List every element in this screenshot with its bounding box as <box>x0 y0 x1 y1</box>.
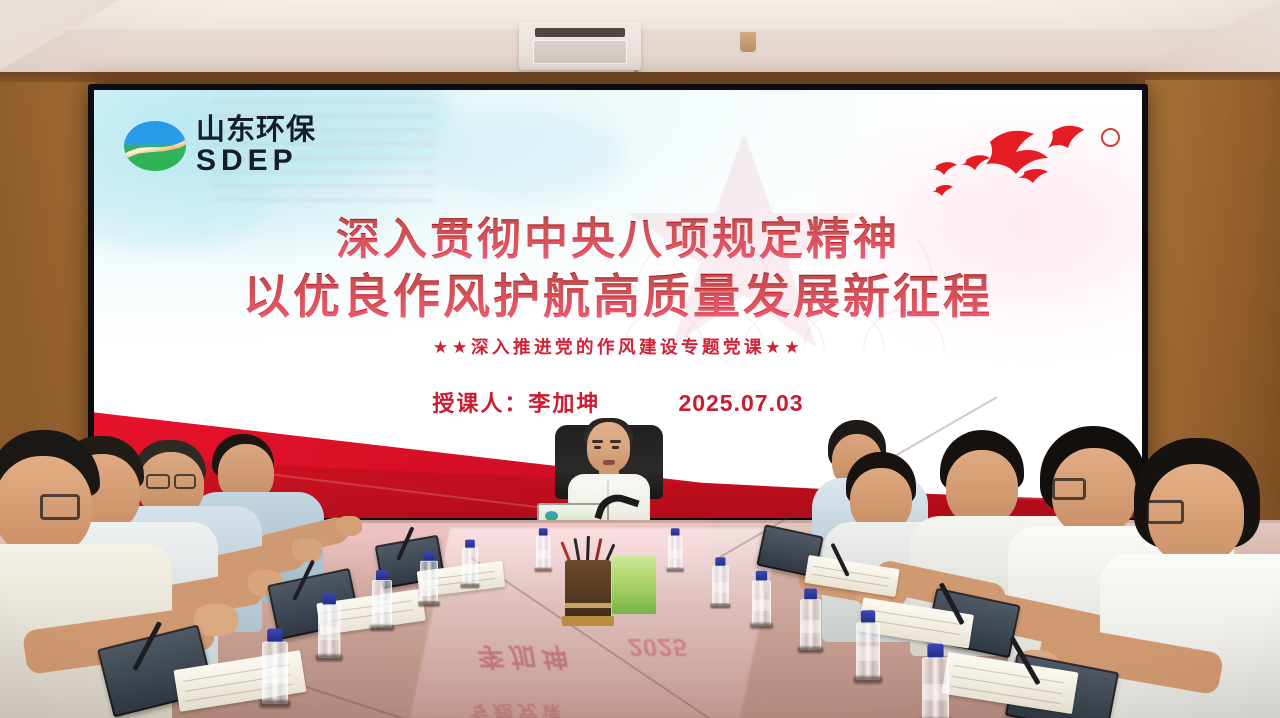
water-bottle[interactable] <box>372 570 392 628</box>
slide-title-line-1: 深入贯彻中央八项规定精神 <box>94 212 1142 268</box>
water-bottle[interactable] <box>856 610 880 680</box>
presenter-label: 授课人：李加坤 <box>432 386 600 418</box>
ceiling-sensor-icon <box>740 32 756 52</box>
circle-outline-icon <box>1101 128 1120 147</box>
brand-name-cn: 山东环保 <box>196 115 316 144</box>
water-bottle[interactable] <box>800 589 821 650</box>
wooden-pen-holder <box>565 560 611 618</box>
water-bottle[interactable] <box>922 644 949 718</box>
speaker-brow <box>592 440 603 443</box>
logo-river-shape <box>124 133 186 163</box>
wall-left-panel <box>0 82 96 482</box>
speaker-mouth <box>603 460 615 465</box>
table-reflection-name: 李加坤 <box>475 640 578 677</box>
table-reflection-date: 2025 <box>625 632 690 661</box>
attendee-glasses <box>40 494 80 520</box>
slide-subtitle: ★★深入推进党的作风建设专题党课★★ <box>94 334 1142 359</box>
brand-name-en: SDEP <box>196 146 316 176</box>
speaker-eye <box>612 446 619 449</box>
attendee-glasses <box>1052 478 1086 500</box>
attendee-hand <box>336 516 362 536</box>
conference-room-scene: 山东环保 SDEP <box>0 0 1280 718</box>
green-acrylic-block <box>612 556 656 614</box>
slide-title-block: 深入贯彻中央八项规定精神 以优良作风护航高质量发展新征程 ★★深入推进党的作风建… <box>94 212 1142 359</box>
holder-base <box>562 616 614 626</box>
ceiling-soffit-left <box>0 0 120 70</box>
attendee-hand <box>194 604 238 636</box>
table-reflection-subtitle: 专题党课 <box>468 700 569 718</box>
water-bottle[interactable] <box>262 629 288 704</box>
water-bottle[interactable] <box>536 528 550 570</box>
attendee-glasses <box>1146 500 1184 524</box>
holder-rim <box>565 603 611 608</box>
pencil <box>586 536 590 562</box>
lecture-date: 2025.07.03 <box>678 390 803 417</box>
ac-vent-icon <box>519 22 641 70</box>
cloud-shape <box>424 110 624 200</box>
water-bottle[interactable] <box>752 571 771 626</box>
water-bottle[interactable] <box>712 557 729 606</box>
water-bottle[interactable] <box>318 593 340 658</box>
attendee-right-5 <box>1134 438 1280 718</box>
attendee-head <box>946 450 1018 526</box>
slide-title-line-2: 以优良作风护航高质量发展新征程 <box>94 268 1142 327</box>
sdep-brand-lockup: 山东环保 SDEP <box>124 115 316 176</box>
flying-doves-icon <box>870 114 1120 204</box>
attendee-hand <box>292 538 322 562</box>
sdep-circle-logo-icon <box>124 121 186 171</box>
water-bottle[interactable] <box>462 540 478 586</box>
speaker-brow <box>610 440 621 443</box>
water-bottle[interactable] <box>668 528 682 570</box>
water-bottle[interactable] <box>420 552 438 604</box>
speaker-eye <box>594 446 601 449</box>
